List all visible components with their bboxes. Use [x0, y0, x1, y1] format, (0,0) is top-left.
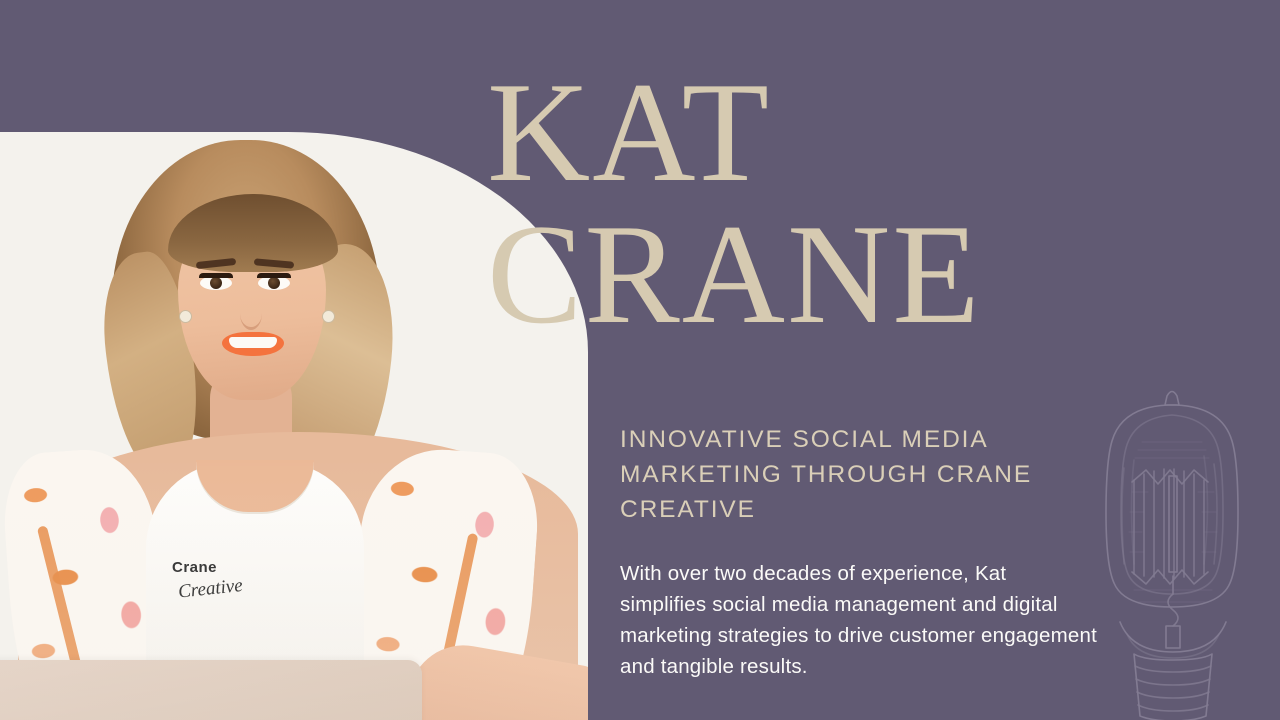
title-line-1: KAT: [487, 62, 1247, 202]
laptop-lid: [0, 660, 422, 720]
eyelash-left: [199, 273, 233, 278]
subheading: Innovative social media marketing throug…: [620, 423, 1050, 527]
nose-shape: [240, 297, 262, 330]
page-title: KAT CRANE: [487, 62, 1247, 344]
earring-left: [179, 310, 192, 323]
eye-left: [200, 276, 232, 290]
teeth-shape: [229, 337, 277, 348]
body-paragraph: With over two decades of experience, Kat…: [620, 558, 1098, 683]
earring-right: [322, 310, 335, 323]
eye-right: [258, 276, 290, 290]
lightbulb-icon: [1072, 372, 1272, 720]
presentation-slide: Crane Creative: [0, 0, 1280, 720]
eyelash-right: [257, 273, 291, 278]
title-line-2: CRANE: [487, 204, 1247, 344]
